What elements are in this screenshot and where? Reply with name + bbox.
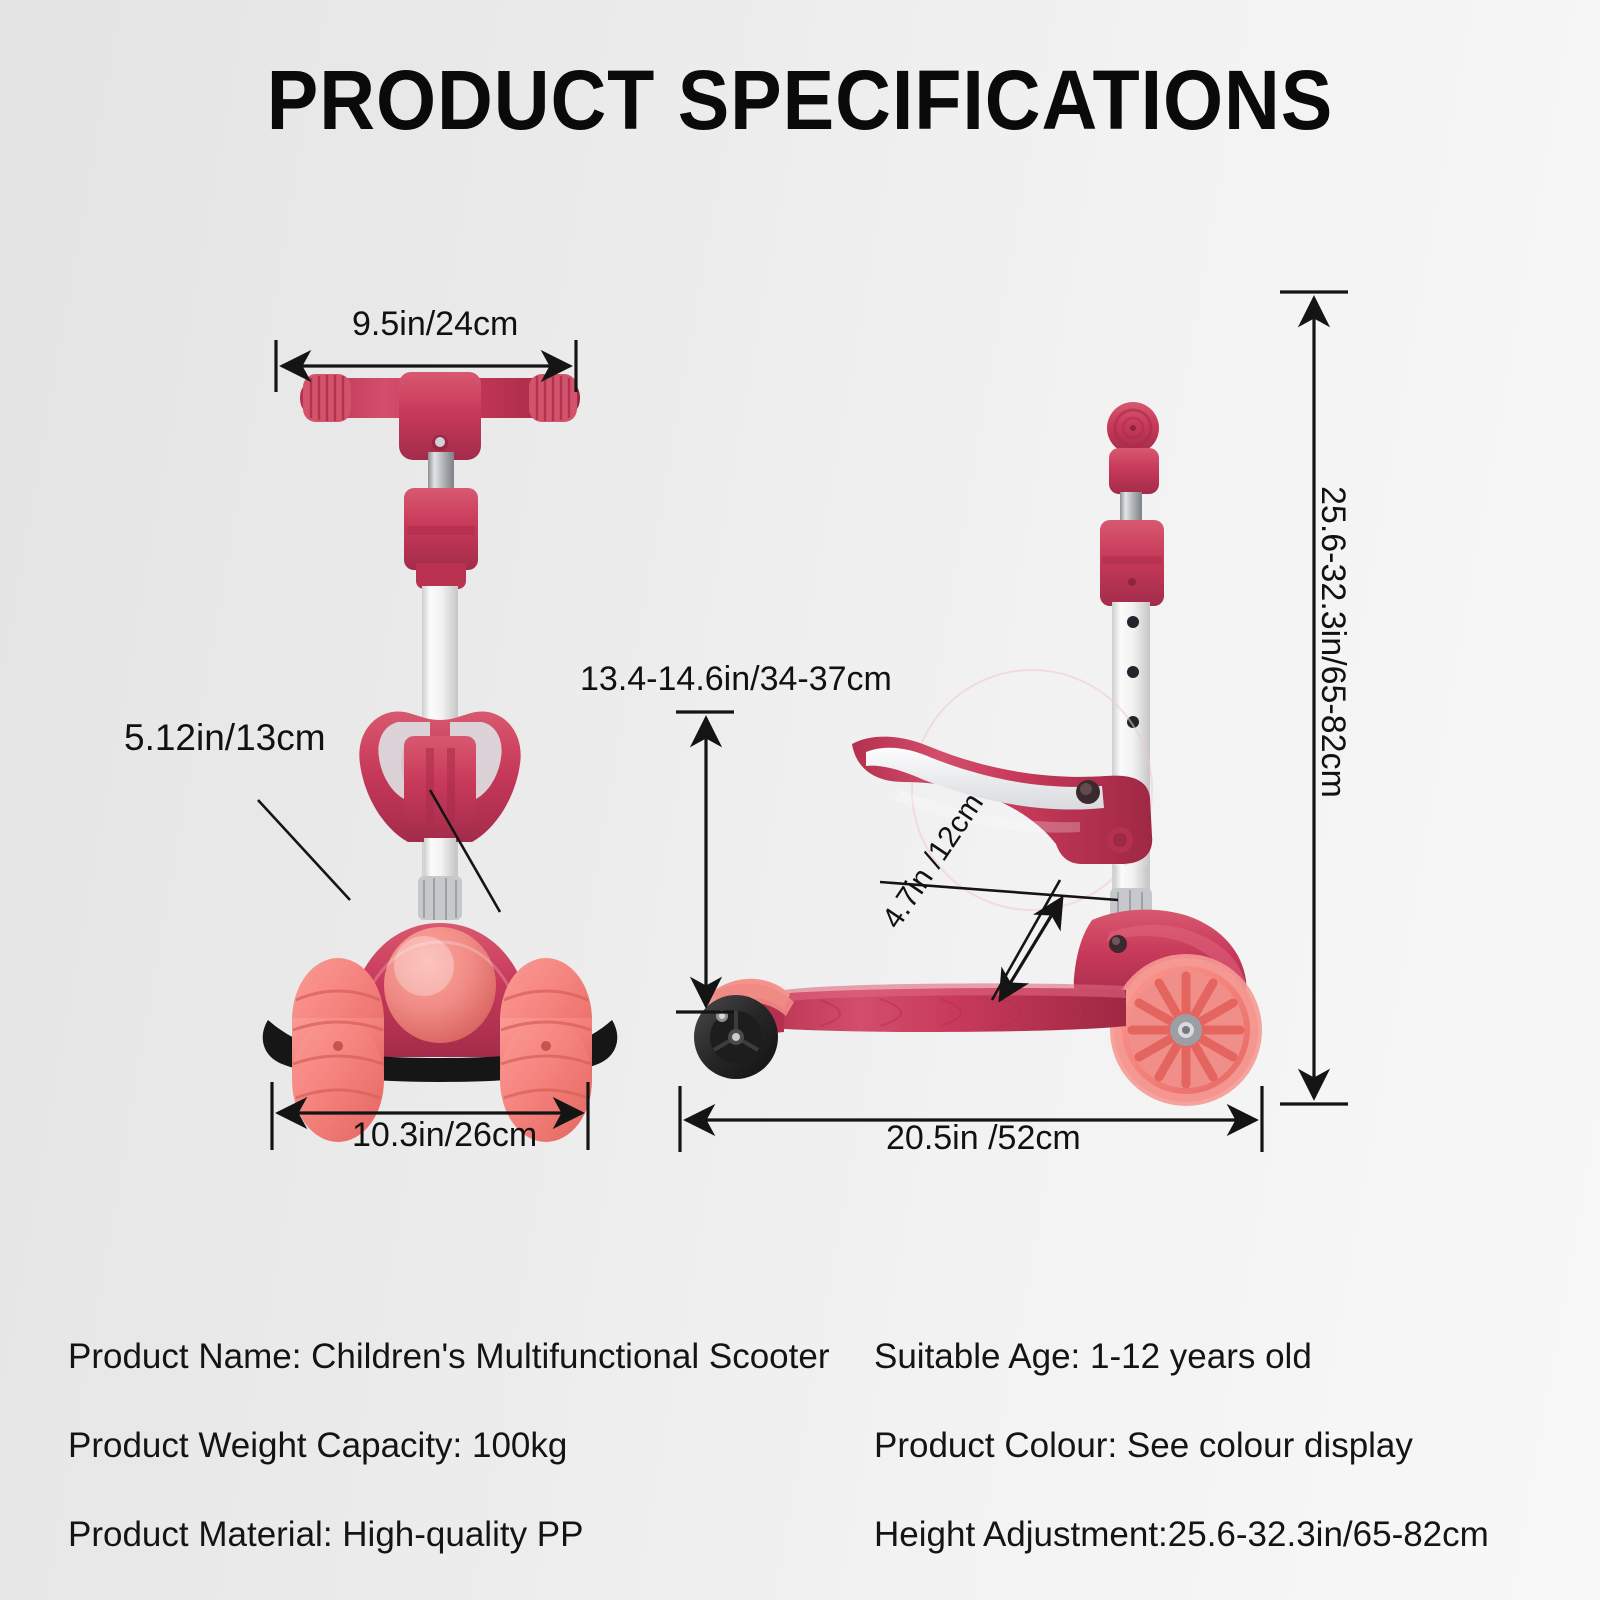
side-view-group (694, 402, 1258, 1102)
side-collar (1100, 520, 1164, 606)
dim-total-length: 20.5in /52cm (886, 1119, 1081, 1158)
dim-total-height: 25.6-32.3in/65-82cm (1313, 486, 1352, 798)
dim-handlebar-width: 9.5in/24cm (352, 305, 518, 344)
leader-deckwidth-upper (992, 880, 1060, 1000)
spec-material: Product Material: High-quality PP (68, 1515, 829, 1555)
side-rear-wheel (1114, 958, 1258, 1102)
spec-column-left: Product Name: Children's Multifunctional… (68, 1337, 829, 1555)
spec-suitable-age: Suitable Age: 1-12 years old (874, 1337, 1489, 1377)
spec-product-colour: Product Colour: See colour display (874, 1426, 1489, 1466)
spec-column-right: Suitable Age: 1-12 years old Product Col… (874, 1337, 1489, 1555)
spec-weight-capacity: Product Weight Capacity: 100kg (68, 1426, 829, 1466)
front-lower-sleeve (418, 876, 462, 920)
dim-deck-height: 13.4-14.6in/34-37cm (580, 660, 892, 699)
side-handlebar (1107, 402, 1159, 494)
front-collar-upper (404, 488, 478, 589)
front-chrome-stem (428, 452, 454, 494)
leader-seat-left (258, 800, 350, 900)
spec-product-name: Product Name: Children's Multifunctional… (68, 1337, 829, 1377)
dim-wheel-track: 10.3in/26cm (352, 1116, 537, 1155)
front-seat (359, 711, 520, 842)
side-seat (852, 737, 1152, 864)
front-handlebar (300, 372, 580, 460)
dim-seat-width: 5.12in/13cm (124, 717, 326, 759)
product-spec-page: PRODUCT SPECIFICATIONS (0, 0, 1600, 1600)
spec-height-adjustment: Height Adjustment:25.6-32.3in/65-82cm (874, 1515, 1489, 1555)
